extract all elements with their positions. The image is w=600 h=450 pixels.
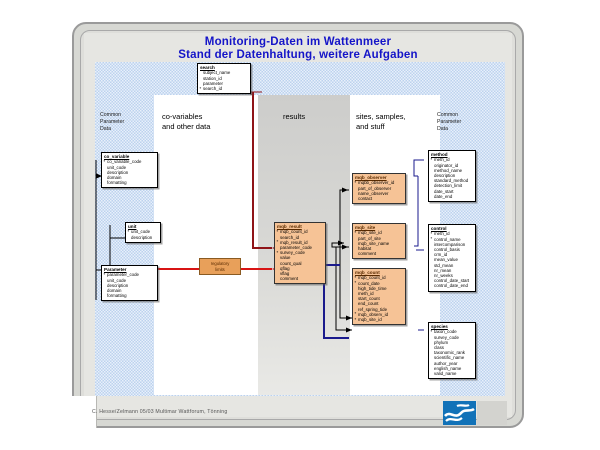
multimar-wattforum-logo-icon: [443, 401, 476, 425]
entity-parameter[interactable]: Parameter parameter_codeunit_codedescrip…: [101, 265, 158, 301]
note-regulatory-limits: regulatory limits: [199, 258, 241, 275]
entity-species[interactable]: species taxon_codesurvey_codephylumclass…: [428, 322, 476, 379]
entity-attrs: meth_idcontrol_nameintercomparisoncontro…: [431, 231, 473, 288]
entity-attrs: co_variable_codeunit_codedescriptiondoma…: [104, 159, 155, 185]
entity-attribute: valid_name: [431, 371, 473, 376]
title-line-2: Stand der Datenhaltung, weitere Aufgaben: [84, 49, 512, 62]
page-title: Monitoring-Daten im Wattenmeer Stand der…: [84, 36, 512, 62]
entity-attribute: formatting: [104, 293, 155, 298]
entity-attribute: description: [128, 235, 158, 240]
logo-tile-placeholder: [477, 401, 507, 425]
entity-attribute: formatting: [104, 180, 155, 185]
column-heading-sites: sites, samples, and stuff: [356, 112, 440, 132]
entity-attrs: mqb_site_idpart_of_sitemqb_site_namehabi…: [355, 230, 403, 256]
entity-attribute: search_id: [200, 86, 248, 91]
entity-search[interactable]: search subject_namestation_idparameterse…: [197, 63, 251, 94]
entity-mqb-count[interactable]: mqb_count mqb_count_idcount_datehigh_tid…: [352, 268, 406, 325]
entity-attribute: control_date_end: [431, 283, 473, 288]
band-caption-right: Common Parameter Data: [437, 112, 487, 133]
title-line-1: Monitoring-Daten im Wattenmeer: [84, 36, 512, 49]
entity-mqb-observer[interactable]: mqb_observer mqbb_observer_idpart_of_obs…: [352, 173, 406, 204]
footer-credit: C. Hesse/Zelmann 05/03 Multimar Wattforu…: [92, 409, 227, 415]
entity-mqb-site[interactable]: mqb_site mqb_site_idpart_of_sitemqb_site…: [352, 223, 406, 259]
band-caption-left: Common Parameter Data: [100, 112, 150, 133]
entity-attribute: comment: [277, 276, 323, 281]
column-heading-results: results: [283, 112, 353, 122]
entity-attrs: mqbb_observer_idpart_of_observername_obs…: [355, 180, 403, 201]
entity-attrs: subject_namestation_idparametersearch_id: [200, 70, 248, 91]
entity-co-variable[interactable]: co_variable co_variable_codeunit_codedes…: [101, 152, 158, 188]
panel-covariables: [154, 95, 258, 395]
entity-mqb-result[interactable]: mqb_result mqb_count_idsearch_idmqb_resu…: [274, 222, 326, 284]
entity-attribute: mqb_site_id: [355, 317, 403, 322]
entity-attrs: unit_codedescription: [128, 229, 158, 239]
entity-method[interactable]: method meth_idoriginator_idmethod_namede…: [428, 150, 476, 202]
entity-control[interactable]: control meth_idcontrol_nameintercomparis…: [428, 224, 476, 292]
entity-unit[interactable]: unit unit_codedescription: [125, 222, 161, 243]
entity-attribute: contact: [355, 196, 403, 201]
entity-attrs: mqb_count_idcount_datehigh_tide_timemeth…: [355, 275, 403, 322]
column-heading-covariables: co-variables and other data: [162, 112, 257, 132]
entity-attrs: meth_idoriginator_idmethod_namedescripti…: [431, 157, 473, 199]
entity-attrs: parameter_codeunit_codedescriptiondomain…: [104, 272, 155, 298]
entity-attrs: taxon_codesurvey_codephylumclasstaxonomi…: [431, 329, 473, 376]
entity-attrs: mqb_count_idsearch_idmqb_result_idparame…: [277, 229, 323, 281]
entity-attribute: date_end: [431, 194, 473, 199]
entity-attribute: comment: [355, 251, 403, 256]
